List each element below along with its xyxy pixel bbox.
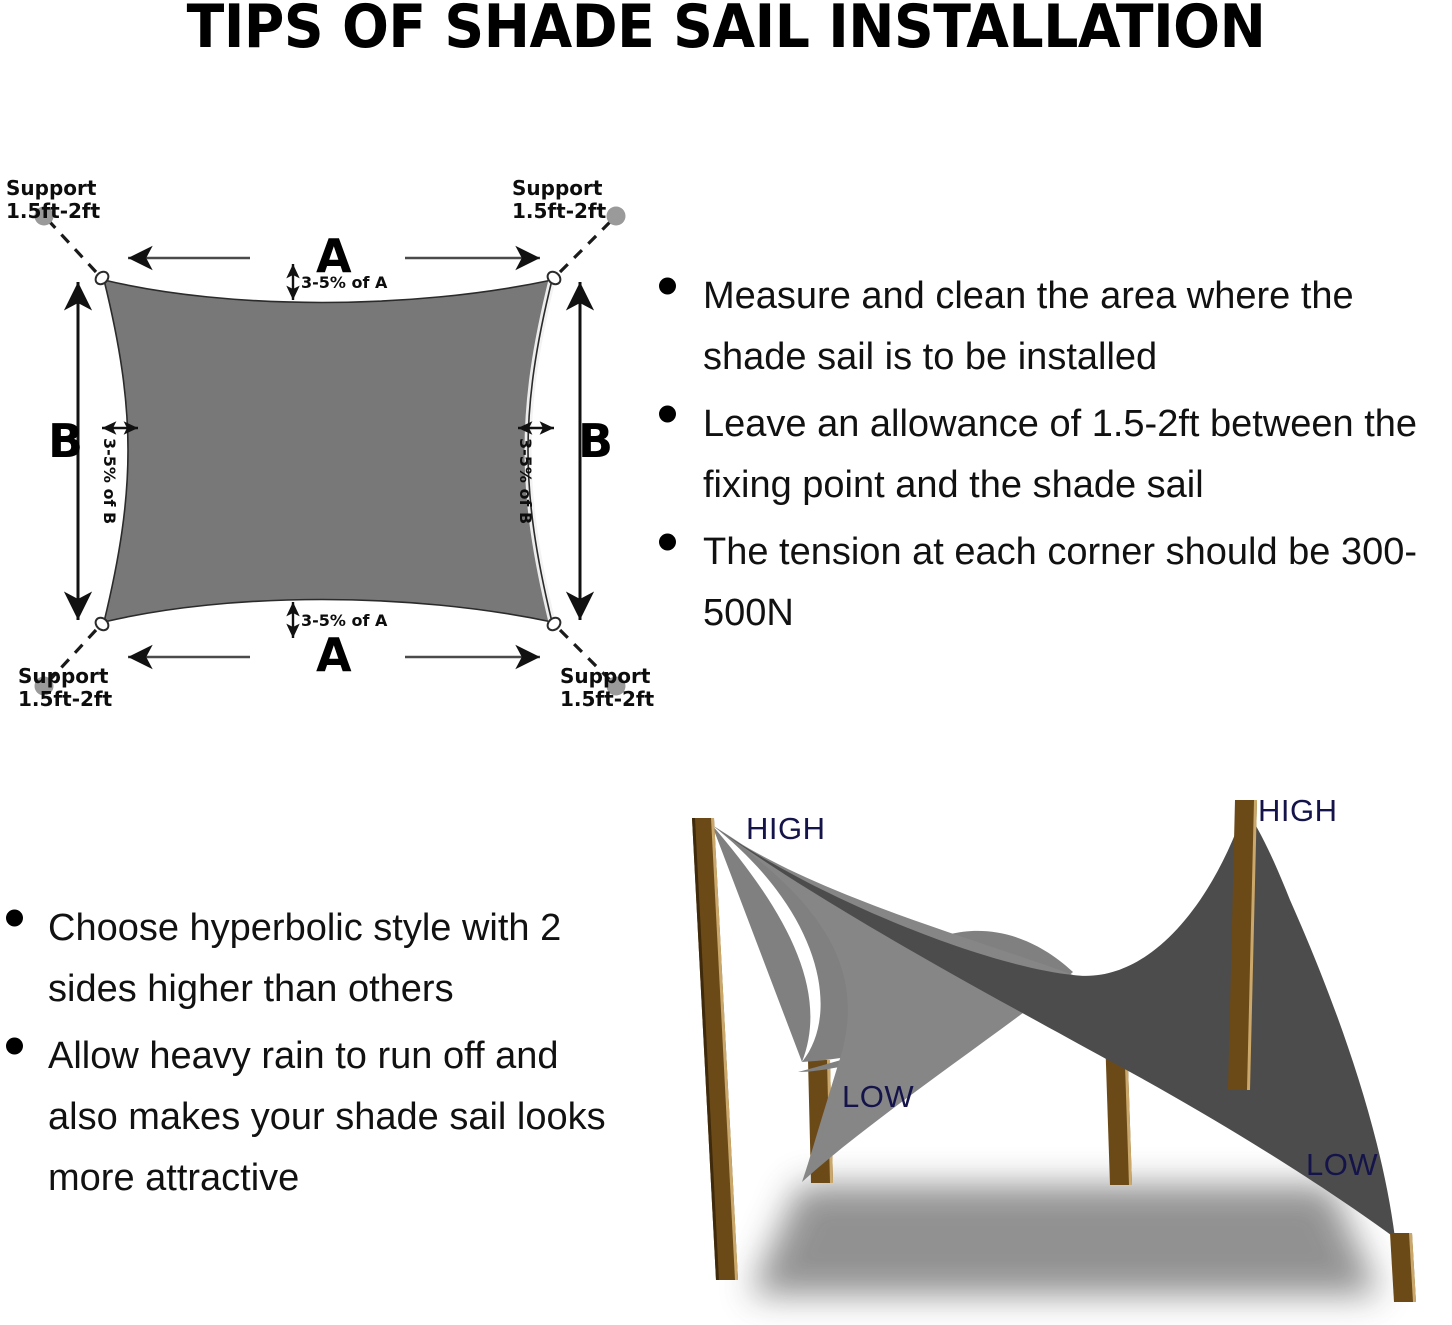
support-range-text: 1.5ft-2ft xyxy=(18,687,112,711)
support-label-bottom-right: Support 1.5ft-2ft xyxy=(560,665,654,711)
curve-depth-label-bottom: 3-5% of A xyxy=(301,612,387,629)
bullet-dot-icon xyxy=(659,533,676,550)
installation-tips-list: Measure and clean the area where the sha… xyxy=(645,266,1452,650)
page-title: TIPS OF SHADE SAIL INSTALLATION xyxy=(58,0,1394,60)
dimension-letter-a-bottom: A xyxy=(316,632,352,678)
hyperbolic-style-tips-list: Choose hyperbolic style with 2 sides hig… xyxy=(0,898,625,1215)
support-label-text: Support xyxy=(560,664,650,688)
label-high-right: HIGH xyxy=(1258,794,1338,827)
list-item: The tension at each corner should be 300… xyxy=(645,522,1452,644)
curve-depth-label-left: 3-5% of B xyxy=(101,438,118,524)
tip-text: Allow heavy rain to run off and also mak… xyxy=(48,1035,606,1199)
support-range-text: 1.5ft-2ft xyxy=(560,687,654,711)
dimension-letter-b-left: B xyxy=(48,418,83,464)
ground-shadow xyxy=(750,1185,1380,1295)
support-label-bottom-left: Support 1.5ft-2ft xyxy=(18,665,112,711)
curve-depth-label-right: 3-5% of B xyxy=(517,438,534,524)
support-range-text: 1.5ft-2ft xyxy=(6,199,100,223)
hypar-sail-svg xyxy=(690,790,1452,1325)
bullet-dot-icon xyxy=(659,277,676,294)
tip-text: Choose hyperbolic style with 2 sides hig… xyxy=(48,907,561,1010)
tip-text: The tension at each corner should be 300… xyxy=(703,531,1417,634)
tip-text: Measure and clean the area where the sha… xyxy=(703,275,1354,378)
list-item: Allow heavy rain to run off and also mak… xyxy=(0,1026,625,1209)
bullet-dot-icon xyxy=(6,909,23,926)
bullet-dot-icon xyxy=(6,1037,23,1054)
list-item: Measure and clean the area where the sha… xyxy=(645,266,1452,388)
list-item: Choose hyperbolic style with 2 sides hig… xyxy=(0,898,625,1020)
hyperbolic-sail-scene: HIGH HIGH LOW LOW xyxy=(690,790,1452,1325)
support-range-text: 1.5ft-2ft xyxy=(512,199,606,223)
list-item: Leave an allowance of 1.5-2ft between th… xyxy=(645,394,1452,516)
sail-fabric xyxy=(104,280,552,622)
curve-depth-label-top: 3-5% of A xyxy=(301,274,387,291)
pole-low-far-right xyxy=(1390,1233,1416,1302)
bullet-dot-icon xyxy=(659,405,676,422)
support-label-top-right: Support 1.5ft-2ft xyxy=(512,177,606,223)
label-high-left: HIGH xyxy=(746,812,826,845)
rectangular-sail-diagram: Support 1.5ft-2ft Support 1.5ft-2ft Supp… xyxy=(0,160,640,740)
tip-text: Leave an allowance of 1.5-2ft between th… xyxy=(703,403,1417,506)
label-low-left: LOW xyxy=(842,1080,914,1113)
support-label-text: Support xyxy=(512,176,602,200)
dimension-letter-b-right: B xyxy=(578,418,613,464)
support-label-text: Support xyxy=(6,176,96,200)
pole-high-left xyxy=(692,818,738,1280)
support-label-top-left: Support 1.5ft-2ft xyxy=(6,177,100,223)
label-low-right: LOW xyxy=(1306,1148,1378,1181)
support-label-text: Support xyxy=(18,664,108,688)
